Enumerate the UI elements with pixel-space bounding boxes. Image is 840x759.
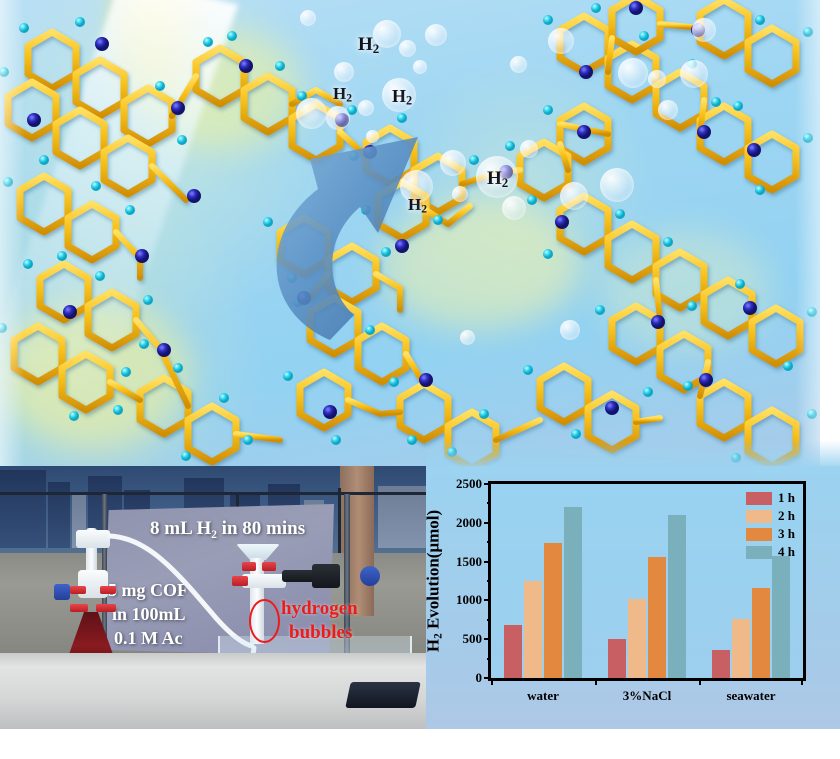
y-axis-title: H2 Evolution(μmol): [424, 510, 445, 652]
y-axis-minor-tick: [487, 580, 491, 582]
legend-swatch: [746, 528, 772, 541]
legend-entry[interactable]: 2 h: [746, 508, 795, 524]
x-axis-category-label: 3%NaCl: [623, 688, 671, 704]
chart-legend: 1 h2 h3 h4 h: [746, 490, 795, 562]
y-axis-tick-label: 0: [476, 670, 483, 686]
legend-entry[interactable]: 3 h: [746, 526, 795, 542]
y-axis-minor-tick: [487, 658, 491, 660]
chart-bar: [628, 599, 646, 678]
legend-label: 1 h: [778, 490, 795, 506]
y-axis-minor-tick: [487, 619, 491, 621]
legend-swatch: [746, 492, 772, 505]
hydrogen-bubbles-line2: bubbles: [289, 622, 352, 644]
y-axis-tick: [484, 638, 491, 640]
bubbles-highlight-ellipse: [249, 599, 280, 643]
y-axis-tick: [484, 483, 491, 485]
legend-swatch: [746, 510, 772, 523]
chart-bar: [712, 650, 730, 678]
y-axis-tick: [484, 522, 491, 524]
y-axis-tick: [484, 561, 491, 563]
y-axis-tick-label: 1000: [456, 592, 482, 608]
y-axis-tick-label: 500: [463, 631, 483, 647]
y-axis-tick-label: 1500: [456, 554, 482, 570]
x-axis-category-label: water: [527, 688, 559, 704]
x-axis-tick: [801, 678, 803, 685]
plot-area: 1 h2 h3 h4 h 05001000150020002500water3%…: [488, 481, 806, 681]
legend-entry[interactable]: 1 h: [746, 490, 795, 506]
chart-bar: [524, 581, 542, 678]
x-axis-tick: [491, 678, 493, 685]
y-axis-minor-tick: [487, 541, 491, 543]
y-axis-title-text: H2 Evolution(μmol): [424, 510, 443, 652]
chart-bar: [608, 639, 626, 678]
x-axis-category-label: seawater: [726, 688, 775, 704]
chart-bar: [668, 515, 686, 678]
x-axis-tick: [699, 678, 701, 685]
experiment-photo: 8 mL H₂ in 80 mins 5 mg COF in 100mL 0.1…: [0, 466, 426, 729]
chart-bar: [772, 556, 790, 678]
chart-bar: [752, 588, 770, 678]
chart-bar: [648, 557, 666, 678]
y-axis-tick-label: 2500: [456, 476, 482, 492]
figure-panel: H2 H2 H2 H2 H2 8 mL H₂ in 80 mins 5 mg C…: [0, 0, 840, 759]
chart-bar: [544, 543, 562, 678]
y-axis-tick-label: 2000: [456, 515, 482, 531]
legend-swatch: [746, 546, 772, 559]
chart-bar: [504, 625, 522, 678]
h2-evolution-bar-chart: H2 Evolution(μmol) 1 h2 h3 h4 h 05001000…: [426, 466, 840, 729]
chart-bar: [564, 507, 582, 678]
x-axis-tick: [595, 678, 597, 685]
legend-label: 2 h: [778, 508, 795, 524]
y-axis-minor-tick: [487, 502, 491, 504]
hydrogen-bubbles-line1: hydrogen: [281, 598, 358, 620]
cof-network-graphic: [0, 0, 820, 470]
chart-bar: [732, 619, 750, 678]
dark-object-right: [345, 682, 421, 708]
cof-illustration: H2 H2 H2 H2 H2: [0, 0, 820, 470]
y-axis-tick: [484, 599, 491, 601]
legend-label: 3 h: [778, 526, 795, 542]
y-axis-tick: [484, 677, 491, 679]
